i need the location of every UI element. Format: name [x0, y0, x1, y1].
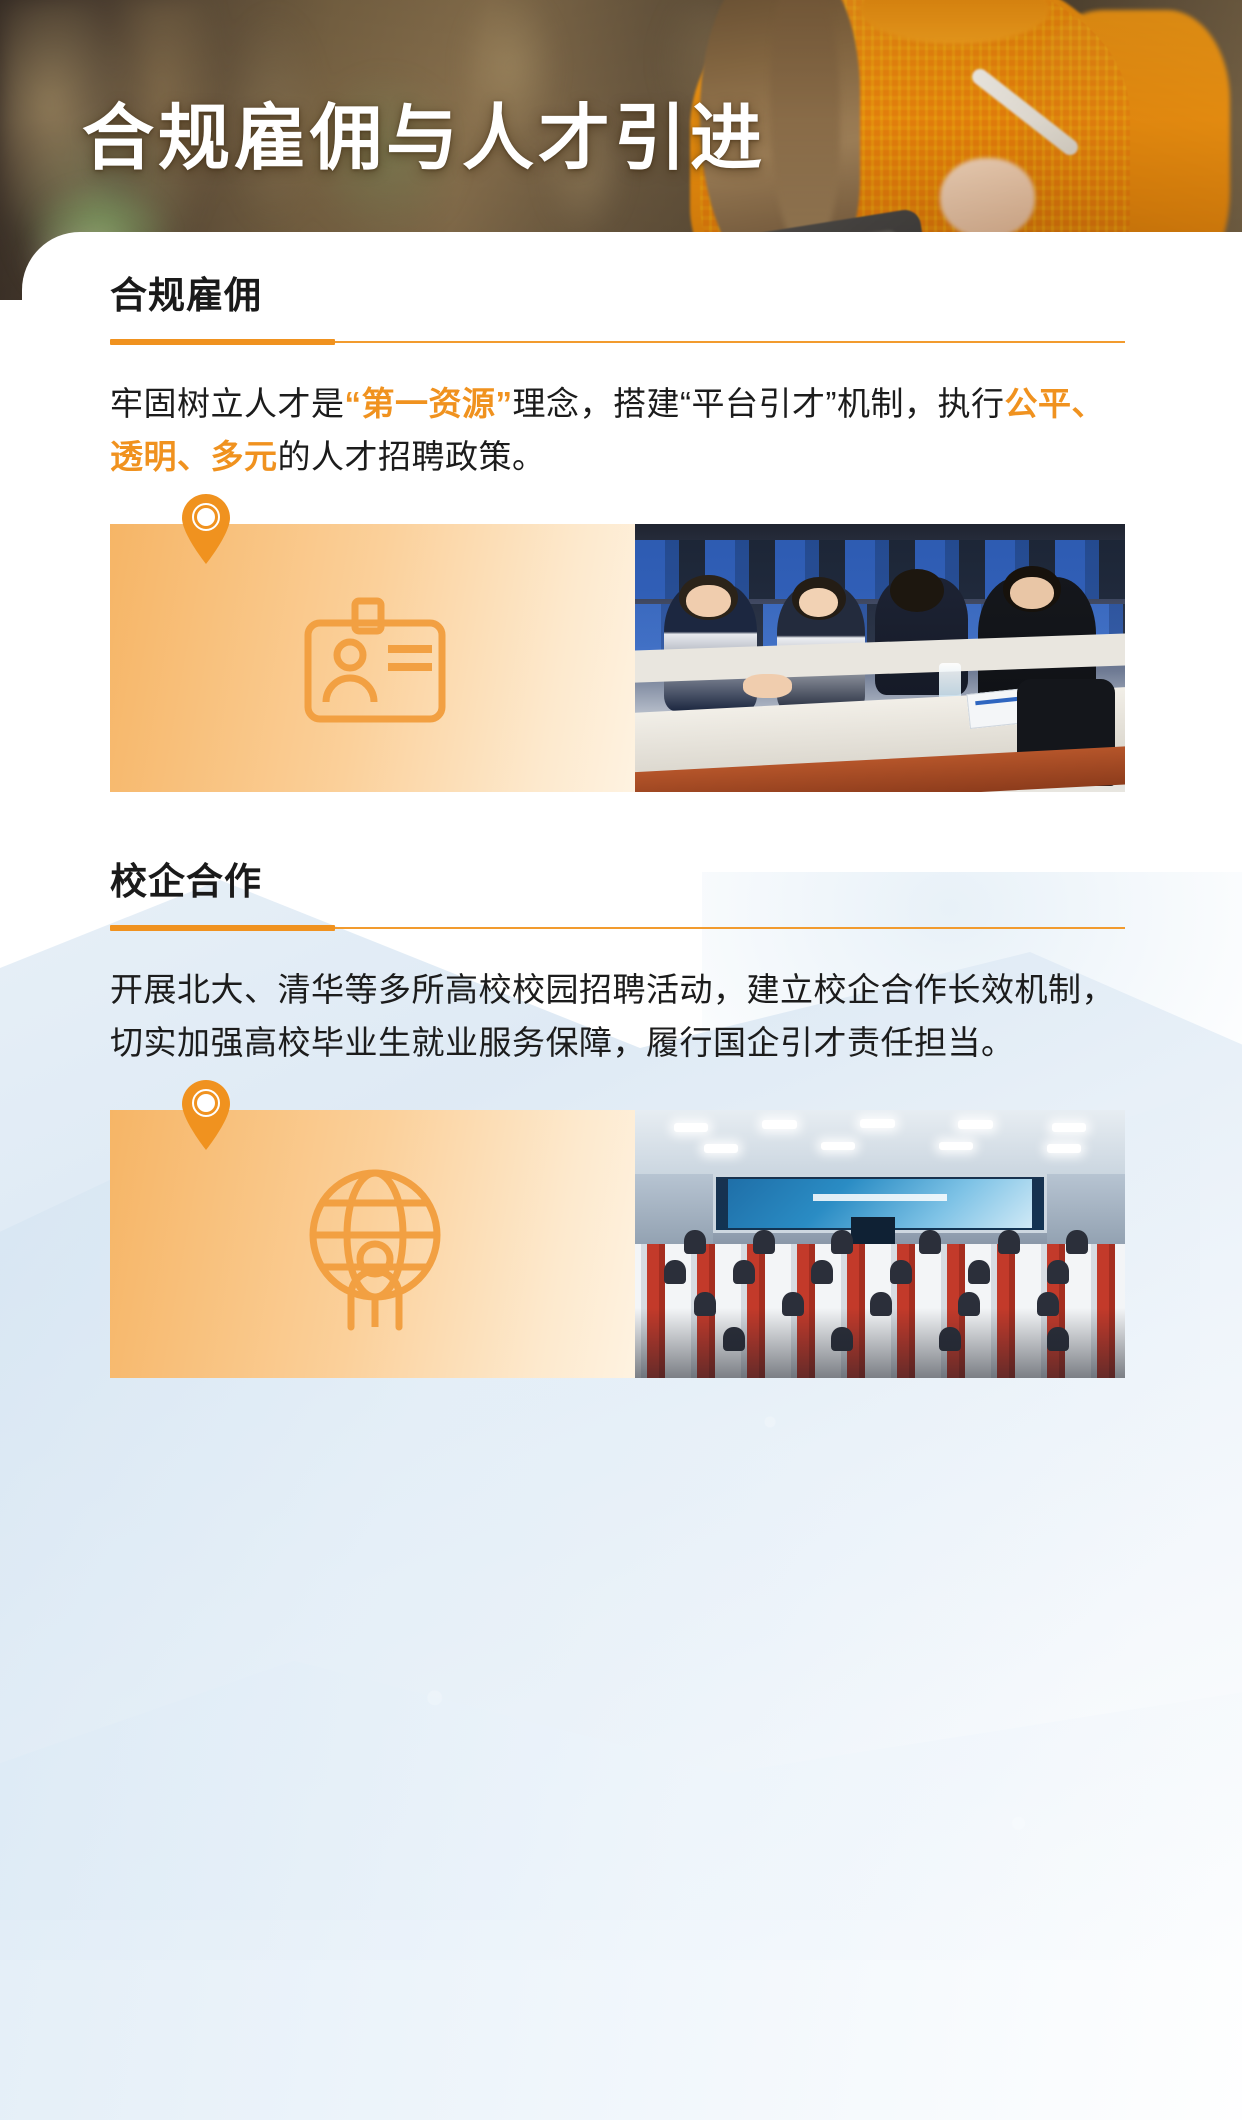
id-badge-icon	[230, 572, 520, 752]
paragraph-run: 牢固树立人才是	[110, 385, 345, 422]
paragraph-run: 的人才招聘政策。	[278, 438, 546, 475]
section-divider	[110, 925, 1125, 931]
paragraph-run: 理念，搭建“平台引才”机制，执行	[513, 385, 1005, 422]
paragraph-run-highlight: “第一资源”	[345, 385, 513, 422]
section-paragraph: 开展北大、清华等多所高校校园招聘活动，建立校企合作长效机制，切实加强高校毕业生就…	[110, 963, 1130, 1070]
paragraph-run: 开展北大、清华等多所高校校园招聘活动，建立校企合作长效机制，切实加强高校毕业生就…	[110, 971, 1115, 1061]
section-school-enterprise-cooperation: 校企合作 开展北大、清华等多所高校校园招聘活动，建立校企合作长效机制，切实加强高…	[0, 862, 1242, 1378]
map-pin-icon	[178, 492, 234, 566]
divider-accent-segment	[110, 925, 335, 931]
section-heading: 校企合作	[110, 862, 1242, 903]
section-photo	[635, 524, 1125, 792]
globe-person-icon	[230, 1158, 520, 1338]
section-compliant-employment: 合规雇佣 牢固树立人才是“第一资源”理念，搭建“平台引才”机制，执行公平、透明、…	[0, 276, 1242, 792]
divider-accent-segment	[110, 339, 335, 345]
section-paragraph: 牢固树立人才是“第一资源”理念，搭建“平台引才”机制，执行公平、透明、多元的人才…	[110, 377, 1130, 484]
section-photo	[635, 1110, 1125, 1378]
page-title: 合规雇佣与人才引进	[82, 103, 766, 175]
media-card	[110, 1110, 1125, 1378]
section-heading: 合规雇佣	[110, 276, 1242, 317]
map-pin-icon	[178, 1078, 234, 1152]
media-card	[110, 524, 1125, 792]
section-divider	[110, 339, 1125, 345]
